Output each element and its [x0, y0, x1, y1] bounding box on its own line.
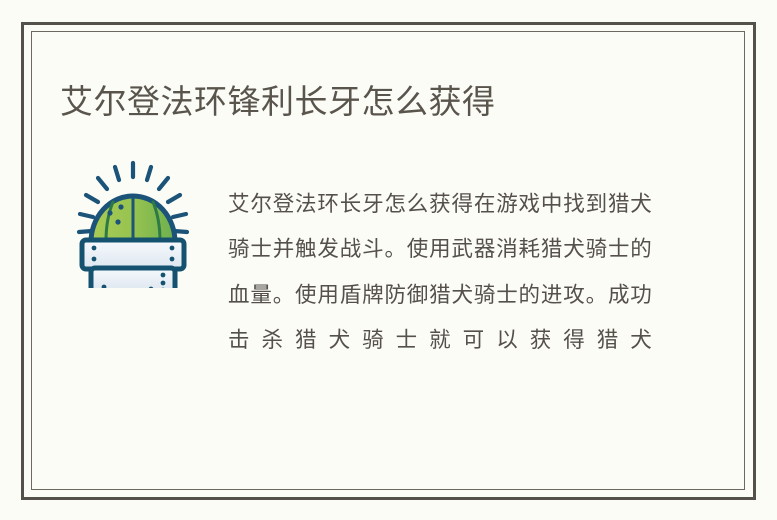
cactus-icon — [77, 156, 189, 288]
article-card: 艾尔登法环锋利长牙怎么获得 — [0, 0, 777, 520]
page-title: 艾尔登法环锋利长牙怎么获得 — [60, 79, 700, 125]
article-body: 艾尔登法环长牙怎么获得在游戏中找到猎犬骑士并触发战斗。使用武器消耗猎犬骑士的血量… — [228, 182, 652, 364]
article-content: 艾尔登法环长牙怎么获得在游戏中找到猎犬骑士并触发战斗。使用武器消耗猎犬骑士的血量… — [60, 152, 700, 412]
